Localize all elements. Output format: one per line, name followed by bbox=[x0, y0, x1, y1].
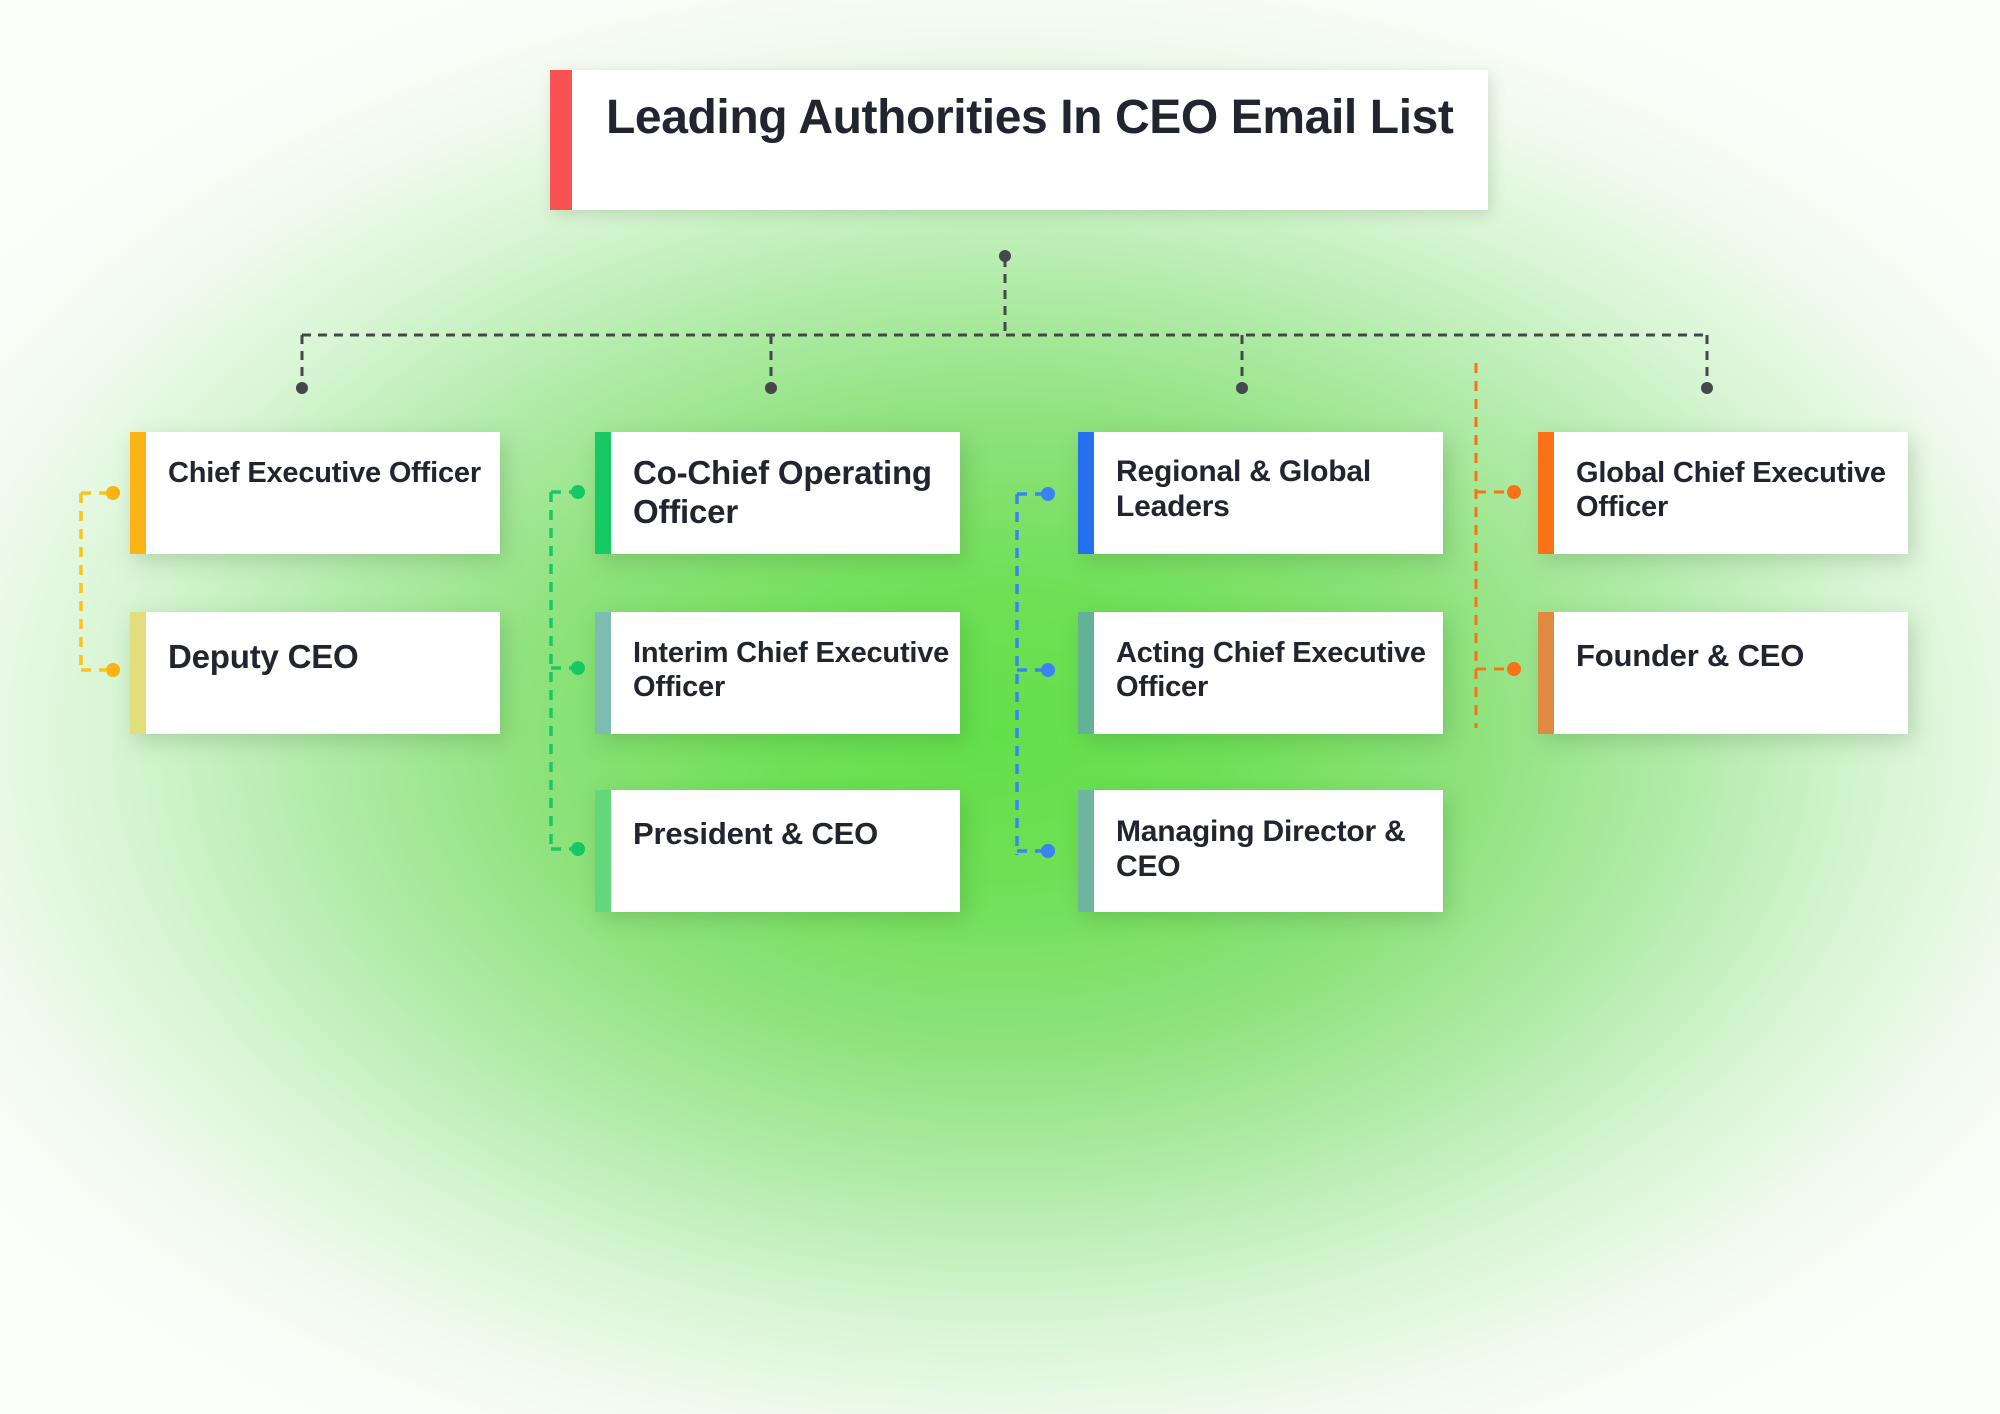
node-label: Deputy CEO bbox=[146, 612, 359, 677]
card-accent-bar bbox=[1078, 612, 1094, 734]
card-accent-bar bbox=[130, 432, 146, 554]
org-chart-canvas: Leading Authorities In CEO Email List bbox=[0, 0, 2000, 1414]
card-body: Interim Chief Executive Officer bbox=[611, 612, 960, 734]
node-card-global-chief-executive-officer[interactable]: Global Chief Executive Officer bbox=[1538, 432, 1908, 554]
card-body: Managing Director & CEO bbox=[1094, 790, 1443, 912]
card-accent-bar bbox=[1538, 612, 1554, 734]
node-label: Acting Chief Executive Officer bbox=[1094, 612, 1443, 705]
node-card-regional-and-global-leaders[interactable]: Regional & Global Leaders bbox=[1078, 432, 1443, 554]
card-body: Deputy CEO bbox=[146, 612, 500, 734]
card-accent-bar bbox=[1538, 432, 1554, 554]
node-card-managing-director-and-ceo[interactable]: Managing Director & CEO bbox=[1078, 790, 1443, 912]
card-body: Acting Chief Executive Officer bbox=[1094, 612, 1443, 734]
card-accent-bar bbox=[1078, 790, 1094, 912]
card-body: Regional & Global Leaders bbox=[1094, 432, 1443, 554]
node-card-founder-and-ceo[interactable]: Founder & CEO bbox=[1538, 612, 1908, 734]
node-card-chief-executive-officer[interactable]: Chief Executive Officer bbox=[130, 432, 500, 554]
node-card-deputy-ceo[interactable]: Deputy CEO bbox=[130, 612, 500, 734]
trunk-connector bbox=[296, 250, 1713, 394]
node-card-co-chief-operating-officer[interactable]: Co-Chief Operating Officer bbox=[595, 432, 960, 554]
node-label: Co-Chief Operating Officer bbox=[611, 432, 960, 531]
node-card-acting-chief-executive-officer[interactable]: Acting Chief Executive Officer bbox=[1078, 612, 1443, 734]
column-2-connector bbox=[551, 485, 585, 856]
node-label: Regional & Global Leaders bbox=[1094, 432, 1443, 524]
node-label: Interim Chief Executive Officer bbox=[611, 612, 960, 705]
card-body: President & CEO bbox=[611, 790, 960, 912]
card-accent-bar bbox=[595, 612, 611, 734]
page-title: Leading Authorities In CEO Email List bbox=[572, 70, 1482, 146]
node-label: Global Chief Executive Officer bbox=[1554, 432, 1908, 525]
node-card-president-and-ceo[interactable]: President & CEO bbox=[595, 790, 960, 912]
title-accent-bar bbox=[550, 70, 572, 210]
node-label: President & CEO bbox=[611, 790, 878, 852]
node-label: Founder & CEO bbox=[1554, 612, 1804, 674]
column-1-connector bbox=[81, 486, 120, 677]
node-card-interim-chief-executive-officer[interactable]: Interim Chief Executive Officer bbox=[595, 612, 960, 734]
card-body: Founder & CEO bbox=[1554, 612, 1908, 734]
card-body: Co-Chief Operating Officer bbox=[611, 432, 960, 554]
column-4-connector bbox=[1476, 363, 1521, 728]
card-accent-bar bbox=[130, 612, 146, 734]
node-label: Chief Executive Officer bbox=[146, 432, 481, 491]
card-accent-bar bbox=[1078, 432, 1094, 554]
card-body: Chief Executive Officer bbox=[146, 432, 500, 554]
card-accent-bar bbox=[595, 790, 611, 912]
column-3-connector bbox=[1017, 487, 1055, 858]
node-label: Managing Director & CEO bbox=[1094, 790, 1443, 884]
card-body: Global Chief Executive Officer bbox=[1554, 432, 1908, 554]
card-accent-bar bbox=[595, 432, 611, 554]
chart-title-card: Leading Authorities In CEO Email List bbox=[550, 70, 1488, 210]
